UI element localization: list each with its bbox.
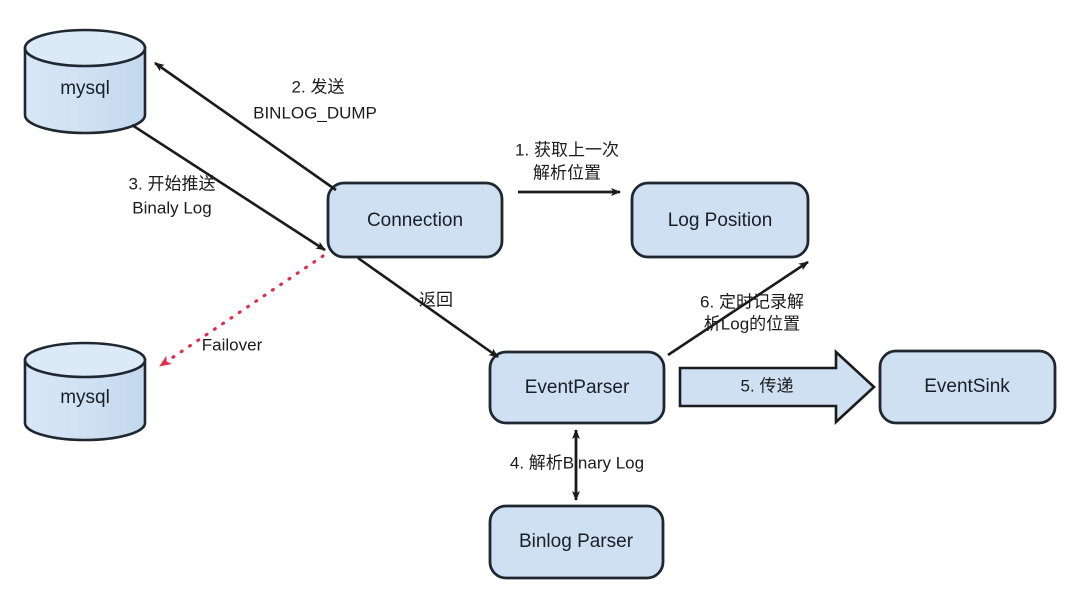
edge-label-1-line1: 1. 获取上一次 [515,140,619,159]
edge-label-6-line2: 析Log的位置 [704,314,800,333]
edge-label-3-line2: Binaly Log [132,198,211,217]
node-mysql-top[interactable]: mysql [25,30,145,133]
architecture-diagram: mysql mysql Connection Log Position Even… [0,0,1080,599]
node-event-sink[interactable]: EventSink [880,351,1055,423]
node-event-parser[interactable]: EventParser [490,352,664,423]
node-log-position[interactable]: Log Position [632,183,808,257]
cylinder-top [25,343,145,377]
edge-2-send-binlog-dump[interactable]: 2. 发送 BINLOG_DUMP [155,63,377,190]
edge-3-start-push-binlog[interactable]: 3. 开始推送 Binaly Log [129,125,325,250]
edge-failover[interactable]: Failover [160,256,323,366]
edge-4-parse-binary-log[interactable]: 4. 解析Binary Log [510,430,644,500]
edge-1-get-last-parse-position[interactable]: 1. 获取上一次 解析位置 [515,140,620,192]
edge-label-1-line2: 解析位置 [533,163,601,182]
node-label-connection: Connection [367,210,463,231]
node-label-mysql-bottom: mysql [60,387,110,408]
node-label-mysql-top: mysql [60,78,110,99]
edge-label-2-line1: 2. 发送 [292,77,345,96]
edge-label-2-line2: BINLOG_DUMP [253,103,377,122]
edge-label-4: 4. 解析Binary Log [510,453,644,472]
node-label-log-position: Log Position [668,210,773,231]
edge-label-3-line1: 3. 开始推送 [129,174,216,193]
diagram-canvas: mysql mysql Connection Log Position Even… [0,0,1080,599]
node-mysql-bottom[interactable]: mysql [25,343,145,440]
edge-label-failover: Failover [202,335,263,354]
edge-5-transfer[interactable]: 5. 传递 [680,352,874,422]
node-connection[interactable]: Connection [328,183,502,257]
node-label-event-parser: EventParser [525,377,630,398]
edge-return[interactable]: 返回 [358,258,498,357]
edge-6-record-parse-log-position[interactable]: 6. 定时记录解 析Log的位置 [668,262,808,355]
edge-label-return: 返回 [419,290,453,309]
edge-label-5: 5. 传递 [741,376,794,395]
node-binlog-parser[interactable]: Binlog Parser [490,506,663,578]
node-label-binlog-parser: Binlog Parser [519,531,634,552]
node-label-event-sink: EventSink [924,376,1010,397]
edge-label-6-line1: 6. 定时记录解 [700,292,804,311]
cylinder-top [25,30,145,66]
